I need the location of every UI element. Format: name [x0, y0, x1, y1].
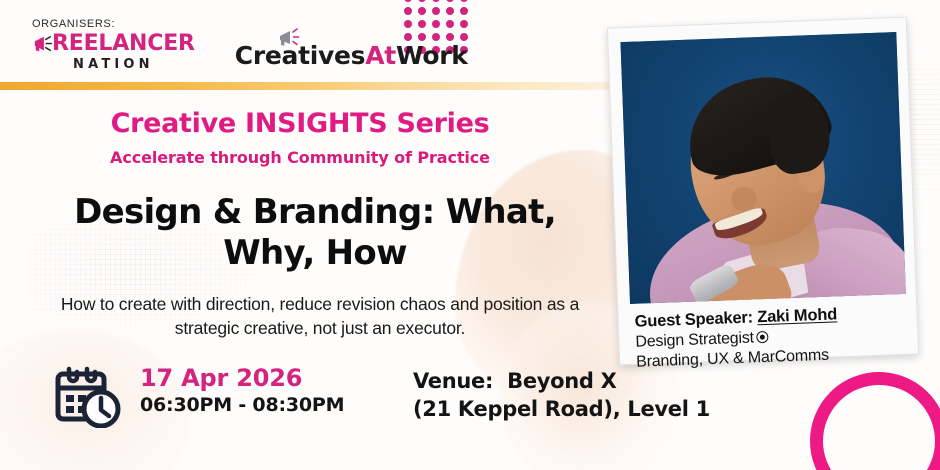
event-poster: ORGANISERS: REELANCERF NATION	[0, 0, 940, 470]
logo-nation-text: NATION	[73, 58, 154, 71]
calendar-clock-icon	[55, 366, 121, 428]
logo-creatives-at-work[interactable]: CreativesAtWork	[235, 36, 468, 68]
session-description: How to create with direction, reduce rev…	[30, 292, 610, 340]
page-title: Design & Branding: What, Why, How	[30, 192, 600, 275]
megaphone-icon	[277, 27, 303, 49]
speaker-photo-card: Guest Speaker: Zaki Mohd Design Strategi…	[607, 17, 919, 366]
logo-freelancer-wordmark: REELANCERF	[52, 33, 195, 55]
series-title: Creative INSIGHTS Series	[0, 108, 600, 139]
event-datetime: 17 Apr 2026 06:30PM - 08:30PM	[140, 366, 344, 418]
logo-freelancer-nation[interactable]: REELANCERF NATION	[32, 33, 195, 71]
organiser-logo-row: REELANCERF NATION CreativesAtWork	[32, 33, 468, 71]
organisers-block: ORGANISERS: REELANCERF NATION	[32, 18, 468, 71]
speaker-caption: Guest Speaker: Zaki Mohd Design Strategi…	[630, 303, 906, 372]
event-time: 06:30PM - 08:30PM	[140, 394, 344, 418]
logo-freelancer-nation-top: REELANCERF	[32, 33, 195, 55]
megaphone-icon	[32, 34, 54, 54]
logo-freelancer-text-pink: REELANCER	[52, 31, 195, 56]
venue-line-1: Venue: Beyond X	[413, 368, 710, 396]
speaker-name: Zaki Mohd	[757, 305, 837, 326]
logo-creatives-at-work-wordmark: CreativesAtWork	[235, 43, 468, 68]
speaker-role: Design Strategist	[635, 329, 754, 350]
speaker-portrait	[620, 32, 905, 304]
pink-ring-decoration	[810, 372, 940, 470]
logo-at-text: At	[365, 41, 396, 70]
guest-speaker-label: Guest Speaker:	[634, 308, 753, 330]
series-subtitle: Accelerate through Community of Practice	[0, 148, 600, 167]
registered-dot-icon	[757, 331, 769, 343]
event-venue: Venue: Beyond X (21 Keppel Road), Level …	[413, 368, 710, 423]
organisers-label: ORGANISERS:	[32, 18, 468, 30]
event-date: 17 Apr 2026	[140, 366, 344, 392]
logo-work-text: Work	[396, 41, 468, 70]
venue-line-2: (21 Keppel Road), Level 1	[413, 396, 710, 424]
